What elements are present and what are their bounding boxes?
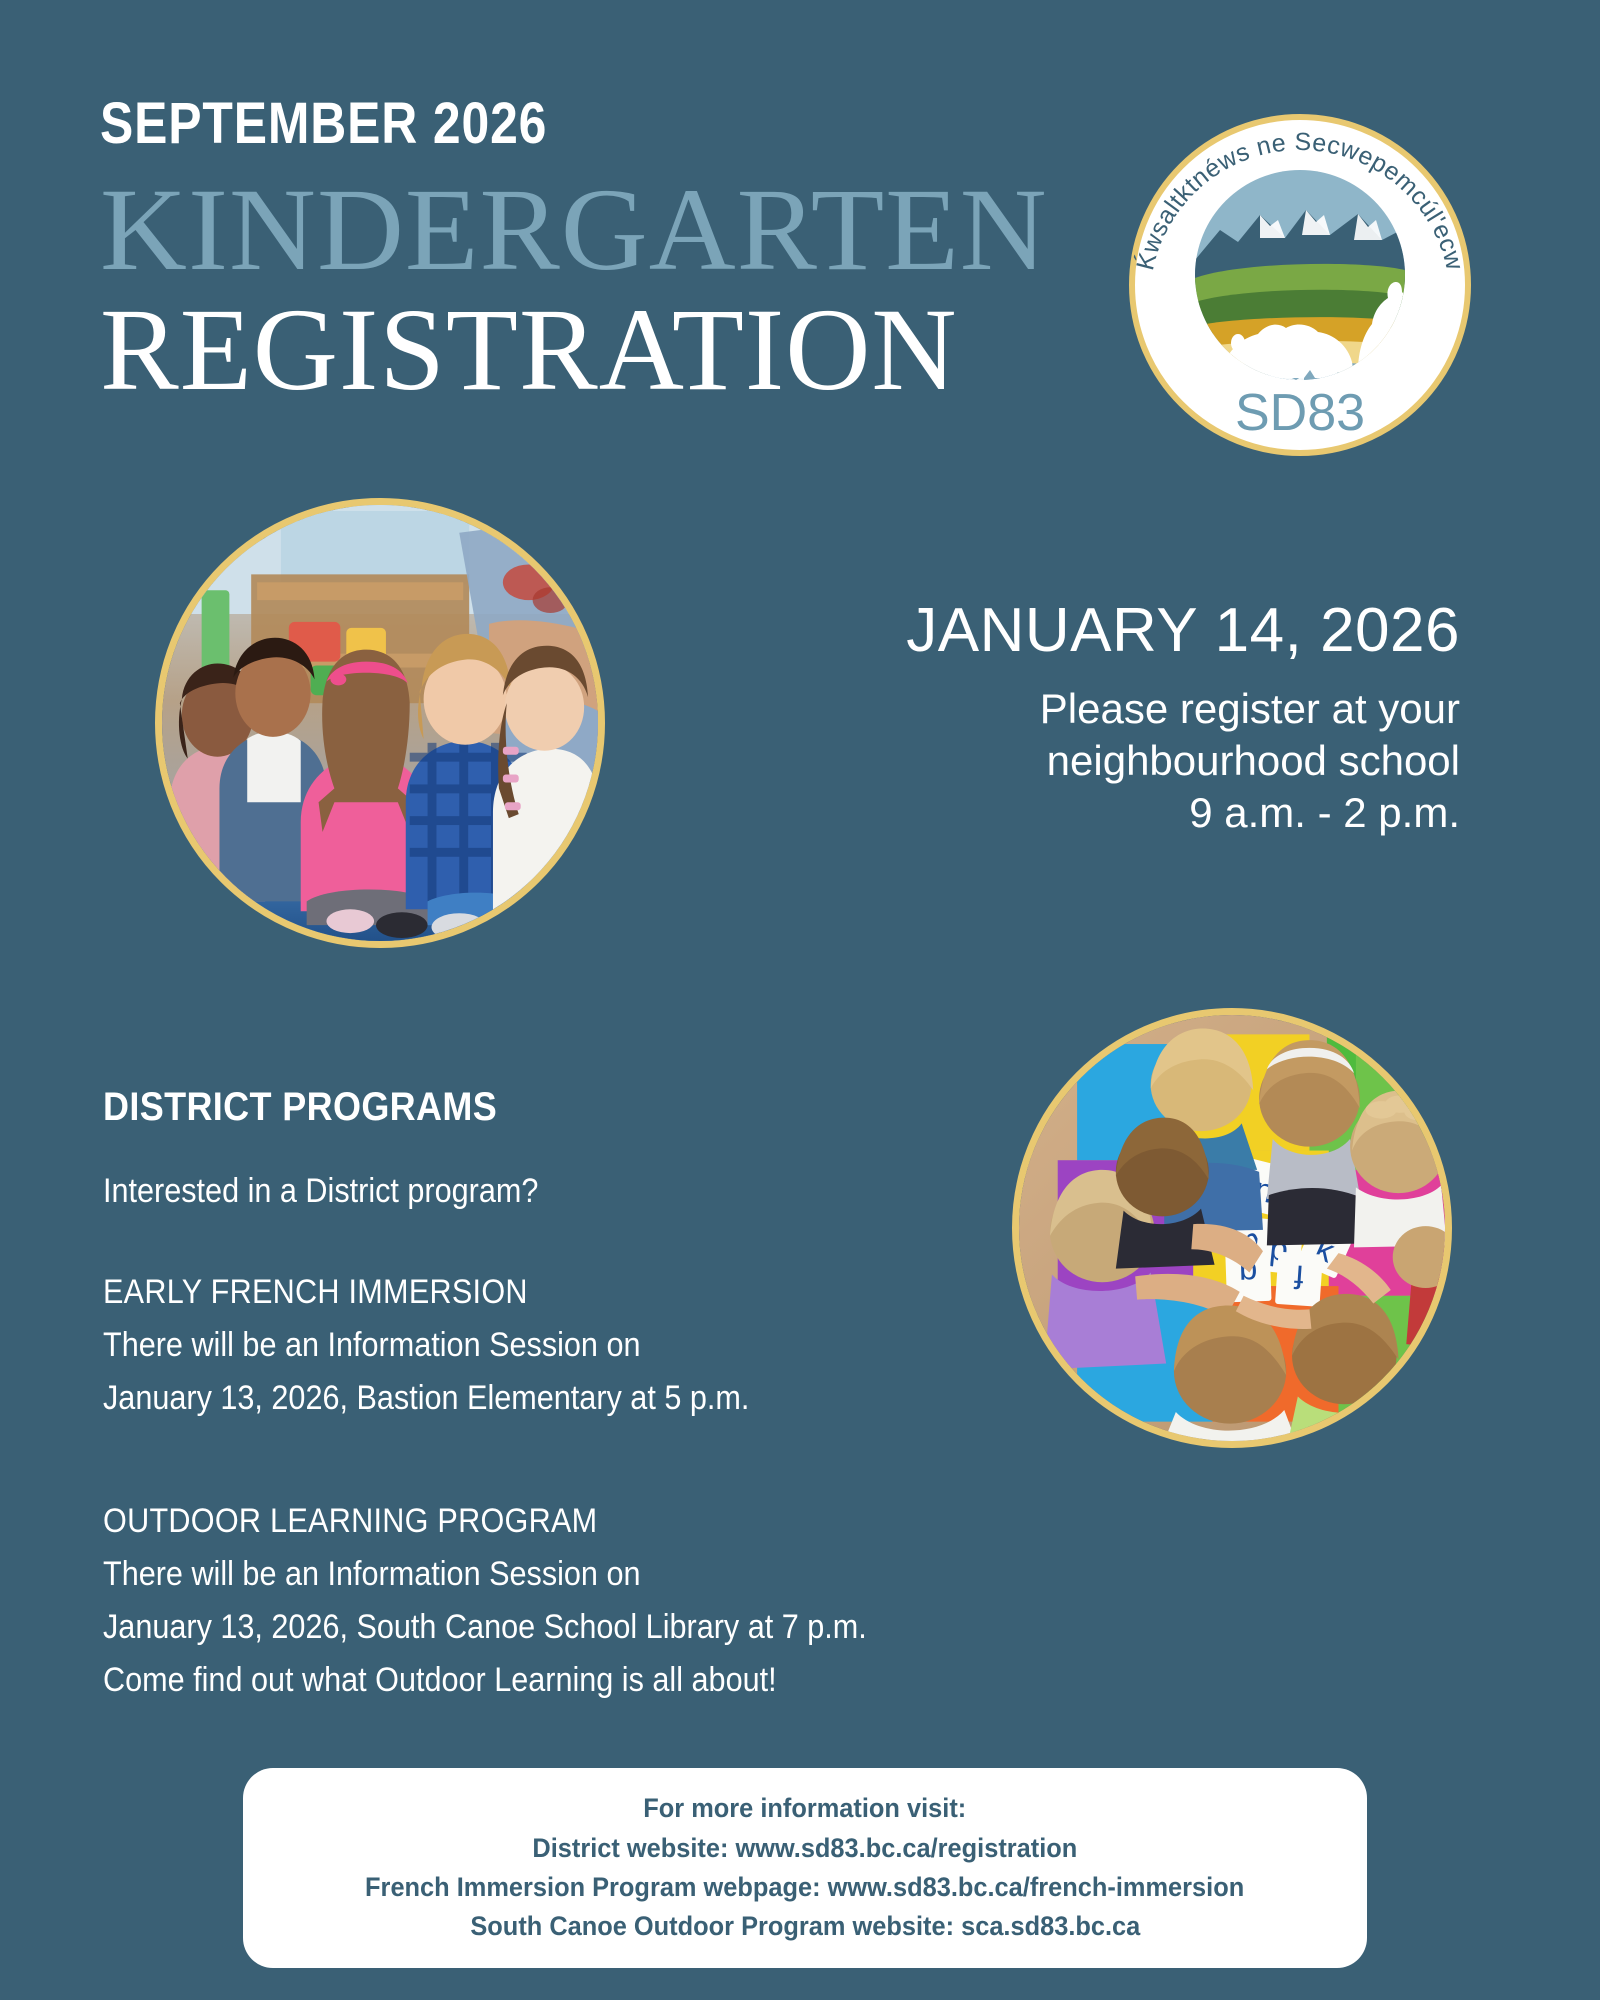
logo-district-code: SD83 [1235, 384, 1365, 442]
poster-canvas: SEPTEMBER 2026 KINDERGARTEN REGISTRATION [0, 0, 1600, 2000]
kindergarten-children-photo [155, 498, 605, 948]
header-month: SEPTEMBER 2026 [100, 95, 960, 153]
program-early-french-immersion: EARLY FRENCH IMMERSION There will be an … [103, 1273, 1123, 1418]
program-line: January 13, 2026, South Canoe School Lib… [103, 1608, 1021, 1647]
district-programs-section: DISTRICT PROGRAMS Interested in a Distri… [103, 1085, 1123, 1700]
program-line: January 13, 2026, Bastion Elementary at … [103, 1379, 1021, 1418]
program-heading: OUTDOOR LEARNING PROGRAM [103, 1502, 1021, 1541]
district-programs-title: DISTRICT PROGRAMS [103, 1085, 1021, 1130]
more-information-card: For more information visit: District web… [243, 1768, 1367, 1968]
photo-children-classroom [162, 505, 598, 941]
sd83-logo: Ḱwsaltktnéws ne Secwepemcúl'ecw SD83 [1110, 110, 1490, 460]
district-programs-question: Interested in a District program? [103, 1172, 1021, 1211]
program-outdoor-learning: OUTDOOR LEARNING PROGRAM There will be a… [103, 1502, 1123, 1700]
program-line: There will be an Information Session on [103, 1326, 1021, 1365]
footer-heading: For more information visit: [644, 1789, 967, 1828]
registration-date: JANUARY 14, 2026 [780, 598, 1460, 665]
poster-header: SEPTEMBER 2026 KINDERGARTEN REGISTRATION [100, 95, 1100, 409]
program-heading: EARLY FRENCH IMMERSION [103, 1273, 1021, 1312]
register-line-2: neighbourhood school [780, 735, 1460, 787]
footer-district-website[interactable]: District website: www.sd83.bc.ca/registr… [533, 1829, 1078, 1868]
program-line: Come find out what Outdoor Learning is a… [103, 1661, 1021, 1700]
header-kindergarten: KINDERGARTEN [100, 171, 1120, 289]
footer-french-immersion-website[interactable]: French Immersion Program webpage: www.sd… [365, 1868, 1244, 1907]
registration-date-block: JANUARY 14, 2026 Please register at your… [780, 598, 1460, 839]
photo-children-overhead: n s m p k q f [1019, 1015, 1445, 1441]
footer-south-canoe-website[interactable]: South Canoe Outdoor Program website: sca… [470, 1907, 1140, 1946]
program-line: There will be an Information Session on [103, 1555, 1021, 1594]
sd83-logo-icon: Ḱwsaltktnéws ne Secwepemcúl'ecw SD83 [1110, 110, 1490, 460]
register-hours: 9 a.m. - 2 p.m. [780, 787, 1460, 839]
header-registration: REGISTRATION [100, 291, 1100, 409]
register-line-1: Please register at your [780, 683, 1460, 735]
children-letter-cards-photo: n s m p k q f [1012, 1008, 1452, 1448]
